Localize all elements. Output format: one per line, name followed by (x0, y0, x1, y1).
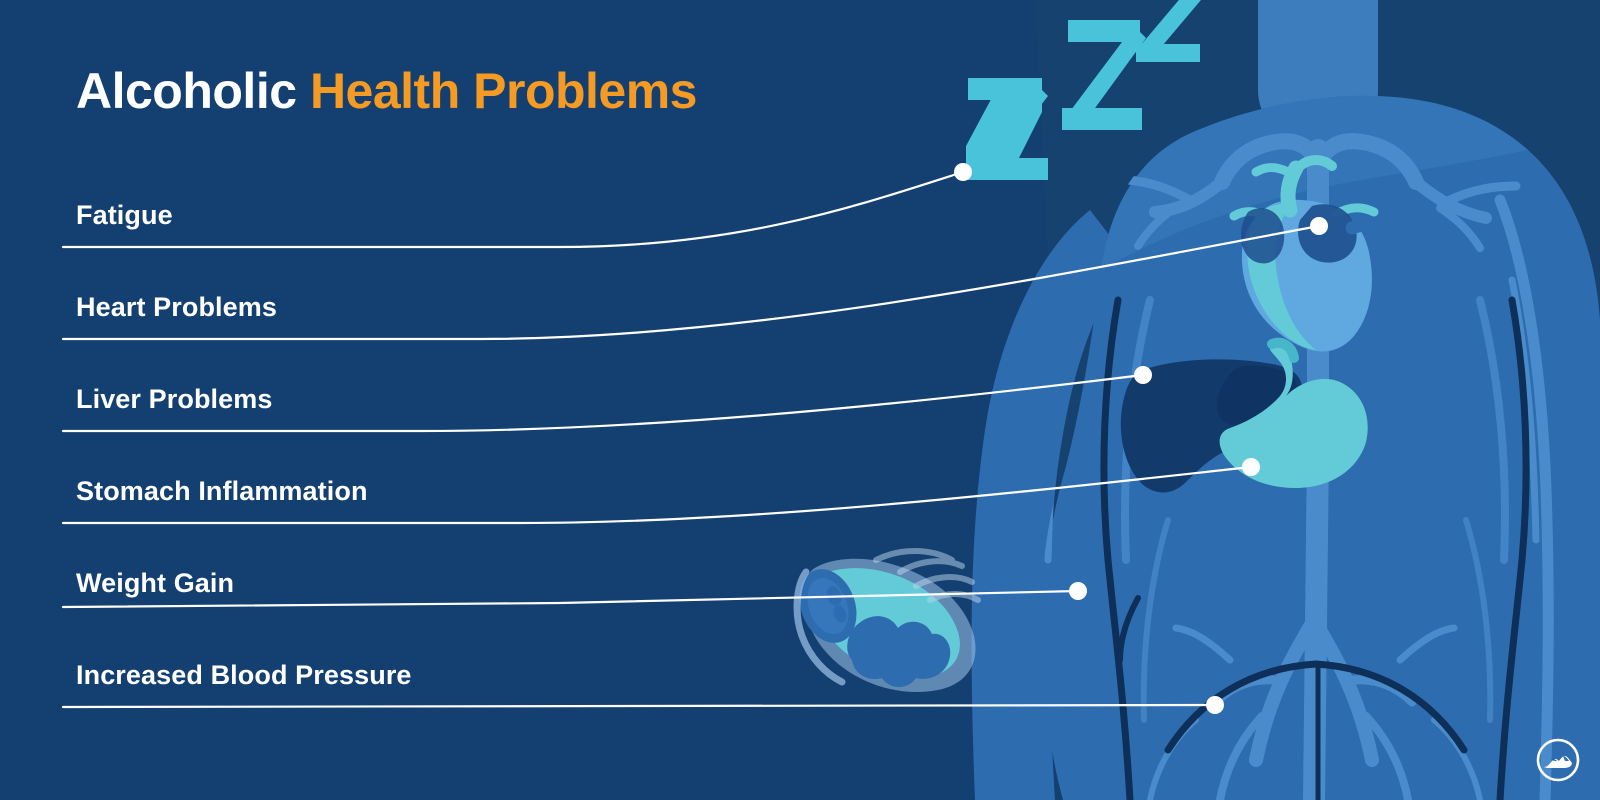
list-item-label: Increased Blood Pressure (76, 660, 412, 690)
connector-line-blood-pressure (63, 705, 1215, 707)
list-item-label: Weight Gain (76, 568, 234, 598)
list-item-label: Stomach Inflammation (76, 476, 368, 506)
dot-liver (1134, 366, 1152, 384)
connector-lines (63, 172, 1319, 707)
list-item-heart-problems[interactable]: Heart Problems (76, 292, 277, 323)
list-item-label: Fatigue (76, 200, 173, 230)
dot-blood-pressure (1206, 696, 1224, 714)
connector-line-fatigue (63, 172, 963, 247)
list-item-fatigue[interactable]: Fatigue (76, 200, 173, 231)
page-title: Alcoholic Health Problems (76, 64, 697, 119)
title-accent: Health Problems (310, 63, 697, 119)
connector-dots (954, 163, 1328, 714)
list-item-liver-problems[interactable]: Liver Problems (76, 384, 272, 415)
dot-heart (1310, 217, 1328, 235)
list-item-increased-blood-pressure[interactable]: Increased Blood Pressure (76, 660, 412, 691)
title-primary: Alcoholic (76, 63, 297, 119)
dot-stomach (1242, 458, 1260, 476)
list-item-weight-gain[interactable]: Weight Gain (76, 568, 234, 599)
dot-weight-gain (1069, 582, 1087, 600)
list-item-label: Liver Problems (76, 384, 272, 414)
list-item-label: Heart Problems (76, 292, 277, 322)
dot-fatigue (954, 163, 972, 181)
list-item-stomach-inflammation[interactable]: Stomach Inflammation (76, 476, 368, 507)
infographic-canvas: Alcoholic Health Problems Fatigue Heart … (0, 0, 1600, 800)
mountain-circle-logo[interactable] (1534, 736, 1582, 784)
